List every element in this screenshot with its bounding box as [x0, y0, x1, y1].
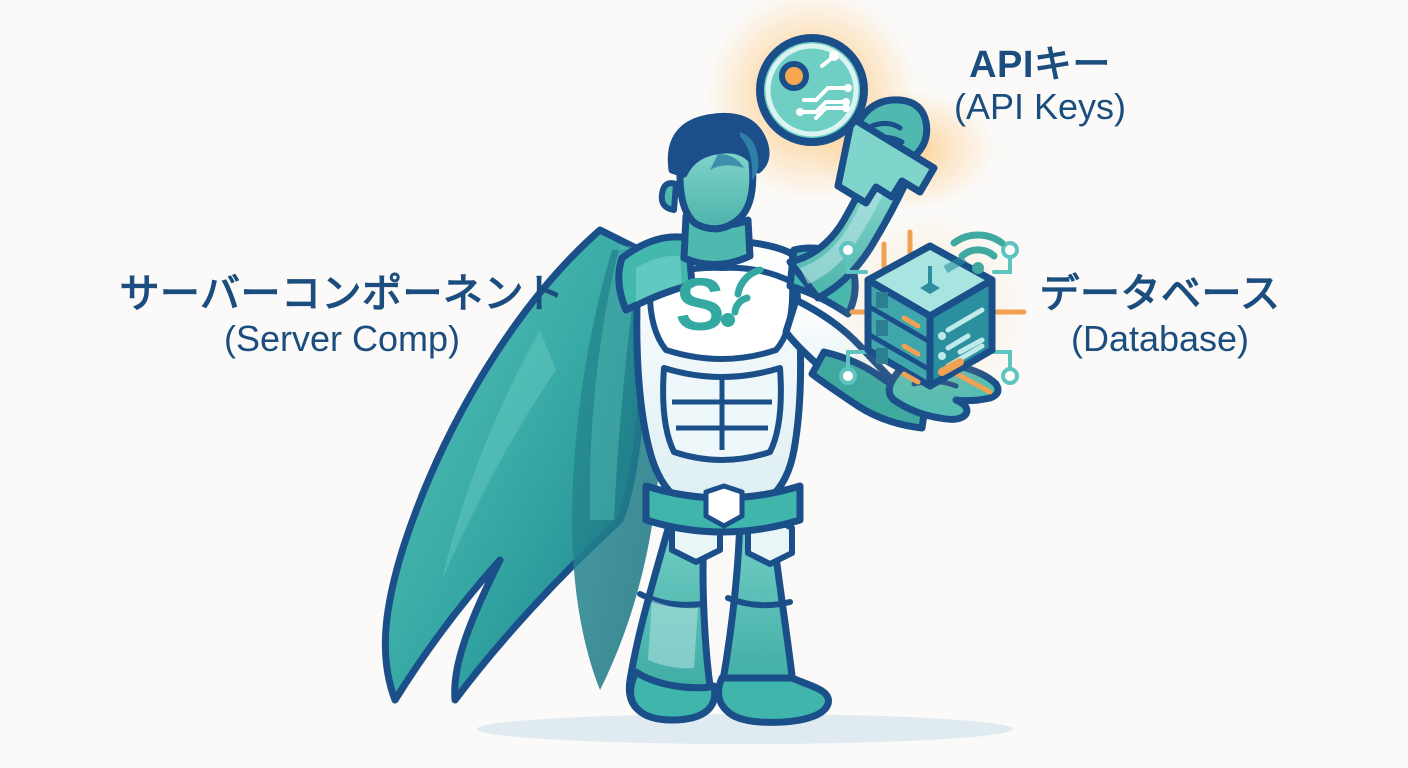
label-api-keys-en: (API Keys): [900, 87, 1180, 127]
label-server-component: サーバーコンポーネント (Server Comp): [92, 272, 592, 359]
illustration-canvas: S: [0, 0, 1408, 768]
label-database: データベース (Database): [1010, 272, 1310, 359]
label-database-en: (Database): [1010, 319, 1310, 359]
label-server-component-jp: サーバーコンポーネント: [92, 272, 592, 317]
label-api-keys-jp: APIキー: [900, 44, 1180, 87]
label-database-jp: データベース: [1010, 272, 1310, 317]
svg-text:S: S: [675, 263, 724, 346]
label-api-keys: APIキー (API Keys): [900, 44, 1180, 127]
hero-illustration: S: [0, 0, 1408, 768]
label-server-component-en: (Server Comp): [92, 319, 592, 359]
database-server-cube-icon: [834, 216, 1026, 408]
